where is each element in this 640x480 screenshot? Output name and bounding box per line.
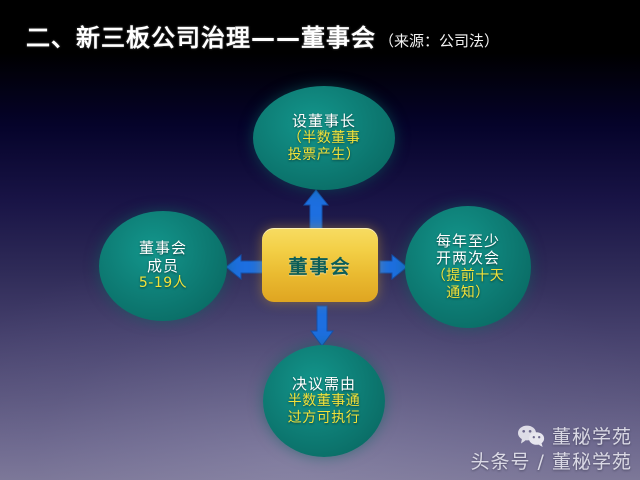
- node-bottom-main-line1: 决议需由: [292, 376, 356, 394]
- center-node-label: 董事会: [288, 252, 351, 279]
- slide-title: 二、新三板公司治理——董事会 （来源：公司法）: [26, 18, 499, 53]
- node-set-chairman[interactable]: 设董事长 （半数董事 投票产生）: [253, 86, 395, 190]
- node-left-sub-line1: 5-19人: [139, 275, 187, 292]
- node-left-main-line2: 成员: [147, 258, 179, 276]
- node-top-sub-line2: 投票产生）: [288, 147, 361, 164]
- page-title: 二、新三板公司治理——董事会: [26, 18, 376, 53]
- node-left-main-line1: 董事会: [139, 240, 187, 258]
- node-resolution-rule[interactable]: 决议需由 半数董事通 过方可执行: [263, 345, 385, 457]
- watermark-account-name: 董秘学苑: [552, 422, 632, 449]
- node-board-of-directors-center[interactable]: 董事会: [262, 228, 378, 302]
- node-board-members[interactable]: 董事会 成员 5-19人: [99, 211, 227, 321]
- watermark-account-row: 董秘学苑: [471, 422, 632, 449]
- node-right-main-line2: 开两次会: [436, 250, 500, 268]
- watermark: 董秘学苑 头条号 / 董秘学苑: [471, 422, 632, 474]
- arrow-left-icon: [224, 254, 264, 280]
- node-right-main-line1: 每年至少: [436, 233, 500, 251]
- node-top-main: 设董事长: [292, 113, 356, 131]
- node-bottom-sub-line2: 过方可执行: [288, 410, 361, 427]
- node-top-sub-line1: （半数董事: [288, 130, 361, 147]
- watermark-platform-line: 头条号 / 董秘学苑: [471, 447, 632, 474]
- node-right-sub-line1: （提前十天: [432, 268, 505, 285]
- title-source-note: （来源：公司法）: [379, 30, 499, 51]
- wechat-icon: [517, 424, 547, 448]
- node-meeting-frequency[interactable]: 每年至少 开两次会 （提前十天 通知）: [405, 206, 531, 328]
- arrow-down-icon: [310, 304, 334, 348]
- arrow-up-icon: [303, 188, 329, 230]
- node-right-sub-line2: 通知）: [446, 285, 490, 302]
- node-bottom-sub-line1: 半数董事通: [288, 393, 361, 410]
- slide-canvas: 二、新三板公司治理——董事会 （来源：公司法） 设董事长 （半数董事 投票产生）…: [0, 0, 640, 480]
